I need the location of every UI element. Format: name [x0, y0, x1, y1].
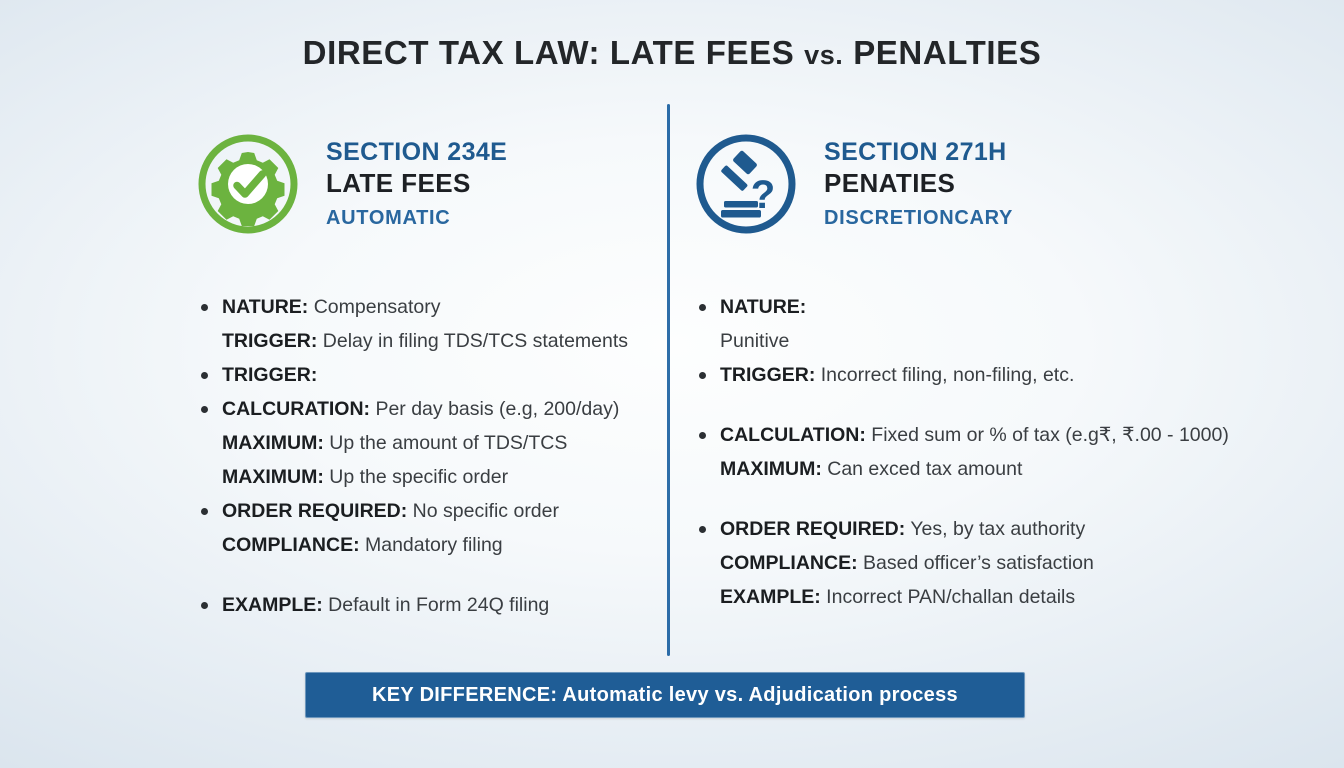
list-item: TRIGGER: Delay in filing TDS/TCS stateme…: [196, 324, 658, 358]
infographic-poster: DIRECT TAX LAW: LATE FEES vs. PENALTIES …: [0, 0, 1344, 768]
list-item-value: Up the specific order: [324, 466, 508, 488]
list-spacer: [694, 486, 1274, 512]
list-item: COMPLIANCE: Mandatory filing: [196, 528, 658, 562]
list-item-value: Mandatory filing: [360, 534, 503, 556]
list-item-key: TRIGGER:: [222, 364, 317, 386]
section-tag-penalties: DISCRETIONCARY: [824, 207, 1013, 230]
column-header-late-fees: SECTION 234E LATE FEES AUTOMATIC: [196, 128, 658, 256]
list-item-key: NATURE:: [720, 296, 806, 318]
list-item-key: ORDER REQUIRED:: [222, 500, 407, 522]
list-item-key: CALCURATION:: [222, 398, 370, 420]
list-item-key: ORDER REQUIRED:: [720, 518, 905, 540]
page-title-vs: vs.: [804, 40, 843, 70]
attribute-list-late-fees: NATURE: Compensatory TRIGGER: Delay in f…: [196, 290, 658, 622]
list-item-key: CALCULATION:: [720, 424, 866, 446]
list-item-value: Punitive: [720, 330, 789, 352]
list-item-value: Incorrect PAN/challan details: [821, 586, 1075, 608]
svg-text:?: ?: [751, 173, 775, 217]
list-item-key: EXAMPLE:: [720, 586, 821, 608]
list-item-key: TRIGGER:: [222, 330, 317, 352]
section-number-penalties: SECTION 271H: [824, 138, 1013, 168]
list-item: MAXIMUM: Up the amount of TDS/TCS: [196, 426, 658, 460]
list-item: NATURE:: [694, 290, 1274, 324]
list-spacer: [694, 392, 1274, 418]
list-item: MAXIMUM: Can exced tax amount: [694, 452, 1274, 486]
list-item-value: Per day basis (e.g, 200/day): [370, 398, 619, 420]
list-item-key: MAXIMUM:: [222, 432, 324, 454]
section-tag-late-fees: AUTOMATIC: [326, 207, 507, 230]
list-item-value: Fixed sum or % of tax (e.g₹, ₹.00 - 1000…: [866, 424, 1229, 446]
list-item-key: MAXIMUM:: [720, 458, 822, 480]
list-item-key: TRIGGER:: [720, 364, 815, 386]
list-item-key: MAXIMUM:: [222, 466, 324, 488]
list-item-key: COMPLIANCE:: [222, 534, 360, 556]
list-item: ORDER REQUIRED: No specific order: [196, 494, 658, 528]
list-item: Punitive: [694, 324, 1274, 358]
column-divider: [667, 104, 670, 656]
list-item-value: Can exced tax amount: [822, 458, 1023, 480]
list-item: EXAMPLE: Incorrect PAN/challan details: [694, 580, 1274, 614]
list-item: CALCURATION: Per day basis (e.g, 200/day…: [196, 392, 658, 426]
column-header-text-penalties: SECTION 271H PENATIES DISCRETIONCARY: [824, 128, 1013, 230]
list-item-key: NATURE:: [222, 296, 308, 318]
key-difference-banner: KEY DIFFERENCE: Automatic levy vs. Adjud…: [305, 672, 1025, 718]
list-item: ORDER REQUIRED: Yes, by tax authority: [694, 512, 1274, 546]
list-item-key: COMPLIANCE:: [720, 552, 858, 574]
attribute-list-penalties: NATURE: Punitive TRIGGER: Incorrect fili…: [694, 290, 1274, 614]
column-penalties: ? SECTION 271H PENATIES DISCRETIONCARY N…: [694, 128, 1274, 614]
page-title-part-2: PENALTIES: [843, 34, 1041, 71]
list-item: MAXIMUM: Up the specific order: [196, 460, 658, 494]
page-title-part-1: DIRECT TAX LAW: LATE FEES: [303, 34, 804, 71]
list-item-value: Based officer’s satisfaction: [858, 552, 1094, 574]
key-difference-text: KEY DIFFERENCE: Automatic levy vs. Adjud…: [372, 684, 958, 707]
list-item: TRIGGER:: [196, 358, 658, 392]
list-item-value: No specific order: [407, 500, 559, 522]
list-item-value: Up the amount of TDS/TCS: [324, 432, 568, 454]
section-kind-late-fees: LATE FEES: [326, 168, 507, 199]
list-item: NATURE: Compensatory: [196, 290, 658, 324]
list-item: CALCULATION: Fixed sum or % of tax (e.g₹…: [694, 418, 1274, 452]
gear-check-icon: [196, 132, 300, 236]
list-item-value: Compensatory: [308, 296, 440, 318]
column-header-penalties: ? SECTION 271H PENATIES DISCRETIONCARY: [694, 128, 1274, 256]
list-item: TRIGGER: Incorrect filing, non-filing, e…: [694, 358, 1274, 392]
list-item-key: EXAMPLE:: [222, 594, 323, 616]
list-item-value: Incorrect filing, non-filing, etc.: [815, 364, 1074, 386]
list-item-value: Default in Form 24Q filing: [323, 594, 550, 616]
list-item-value: Delay in filing TDS/TCS statements: [317, 330, 628, 352]
section-kind-penalties: PENATIES: [824, 168, 1013, 199]
list-item-value: Yes, by tax authority: [905, 518, 1085, 540]
column-header-text-late-fees: SECTION 234E LATE FEES AUTOMATIC: [326, 128, 507, 230]
list-item: EXAMPLE: Default in Form 24Q filing: [196, 588, 658, 622]
list-item: COMPLIANCE: Based officer’s satisfaction: [694, 546, 1274, 580]
column-late-fees: SECTION 234E LATE FEES AUTOMATIC NATURE:…: [196, 128, 658, 622]
page-title: DIRECT TAX LAW: LATE FEES vs. PENALTIES: [0, 34, 1344, 72]
list-spacer: [196, 562, 658, 588]
section-number-late-fees: SECTION 234E: [326, 138, 507, 168]
gavel-question-icon: ?: [694, 132, 798, 236]
